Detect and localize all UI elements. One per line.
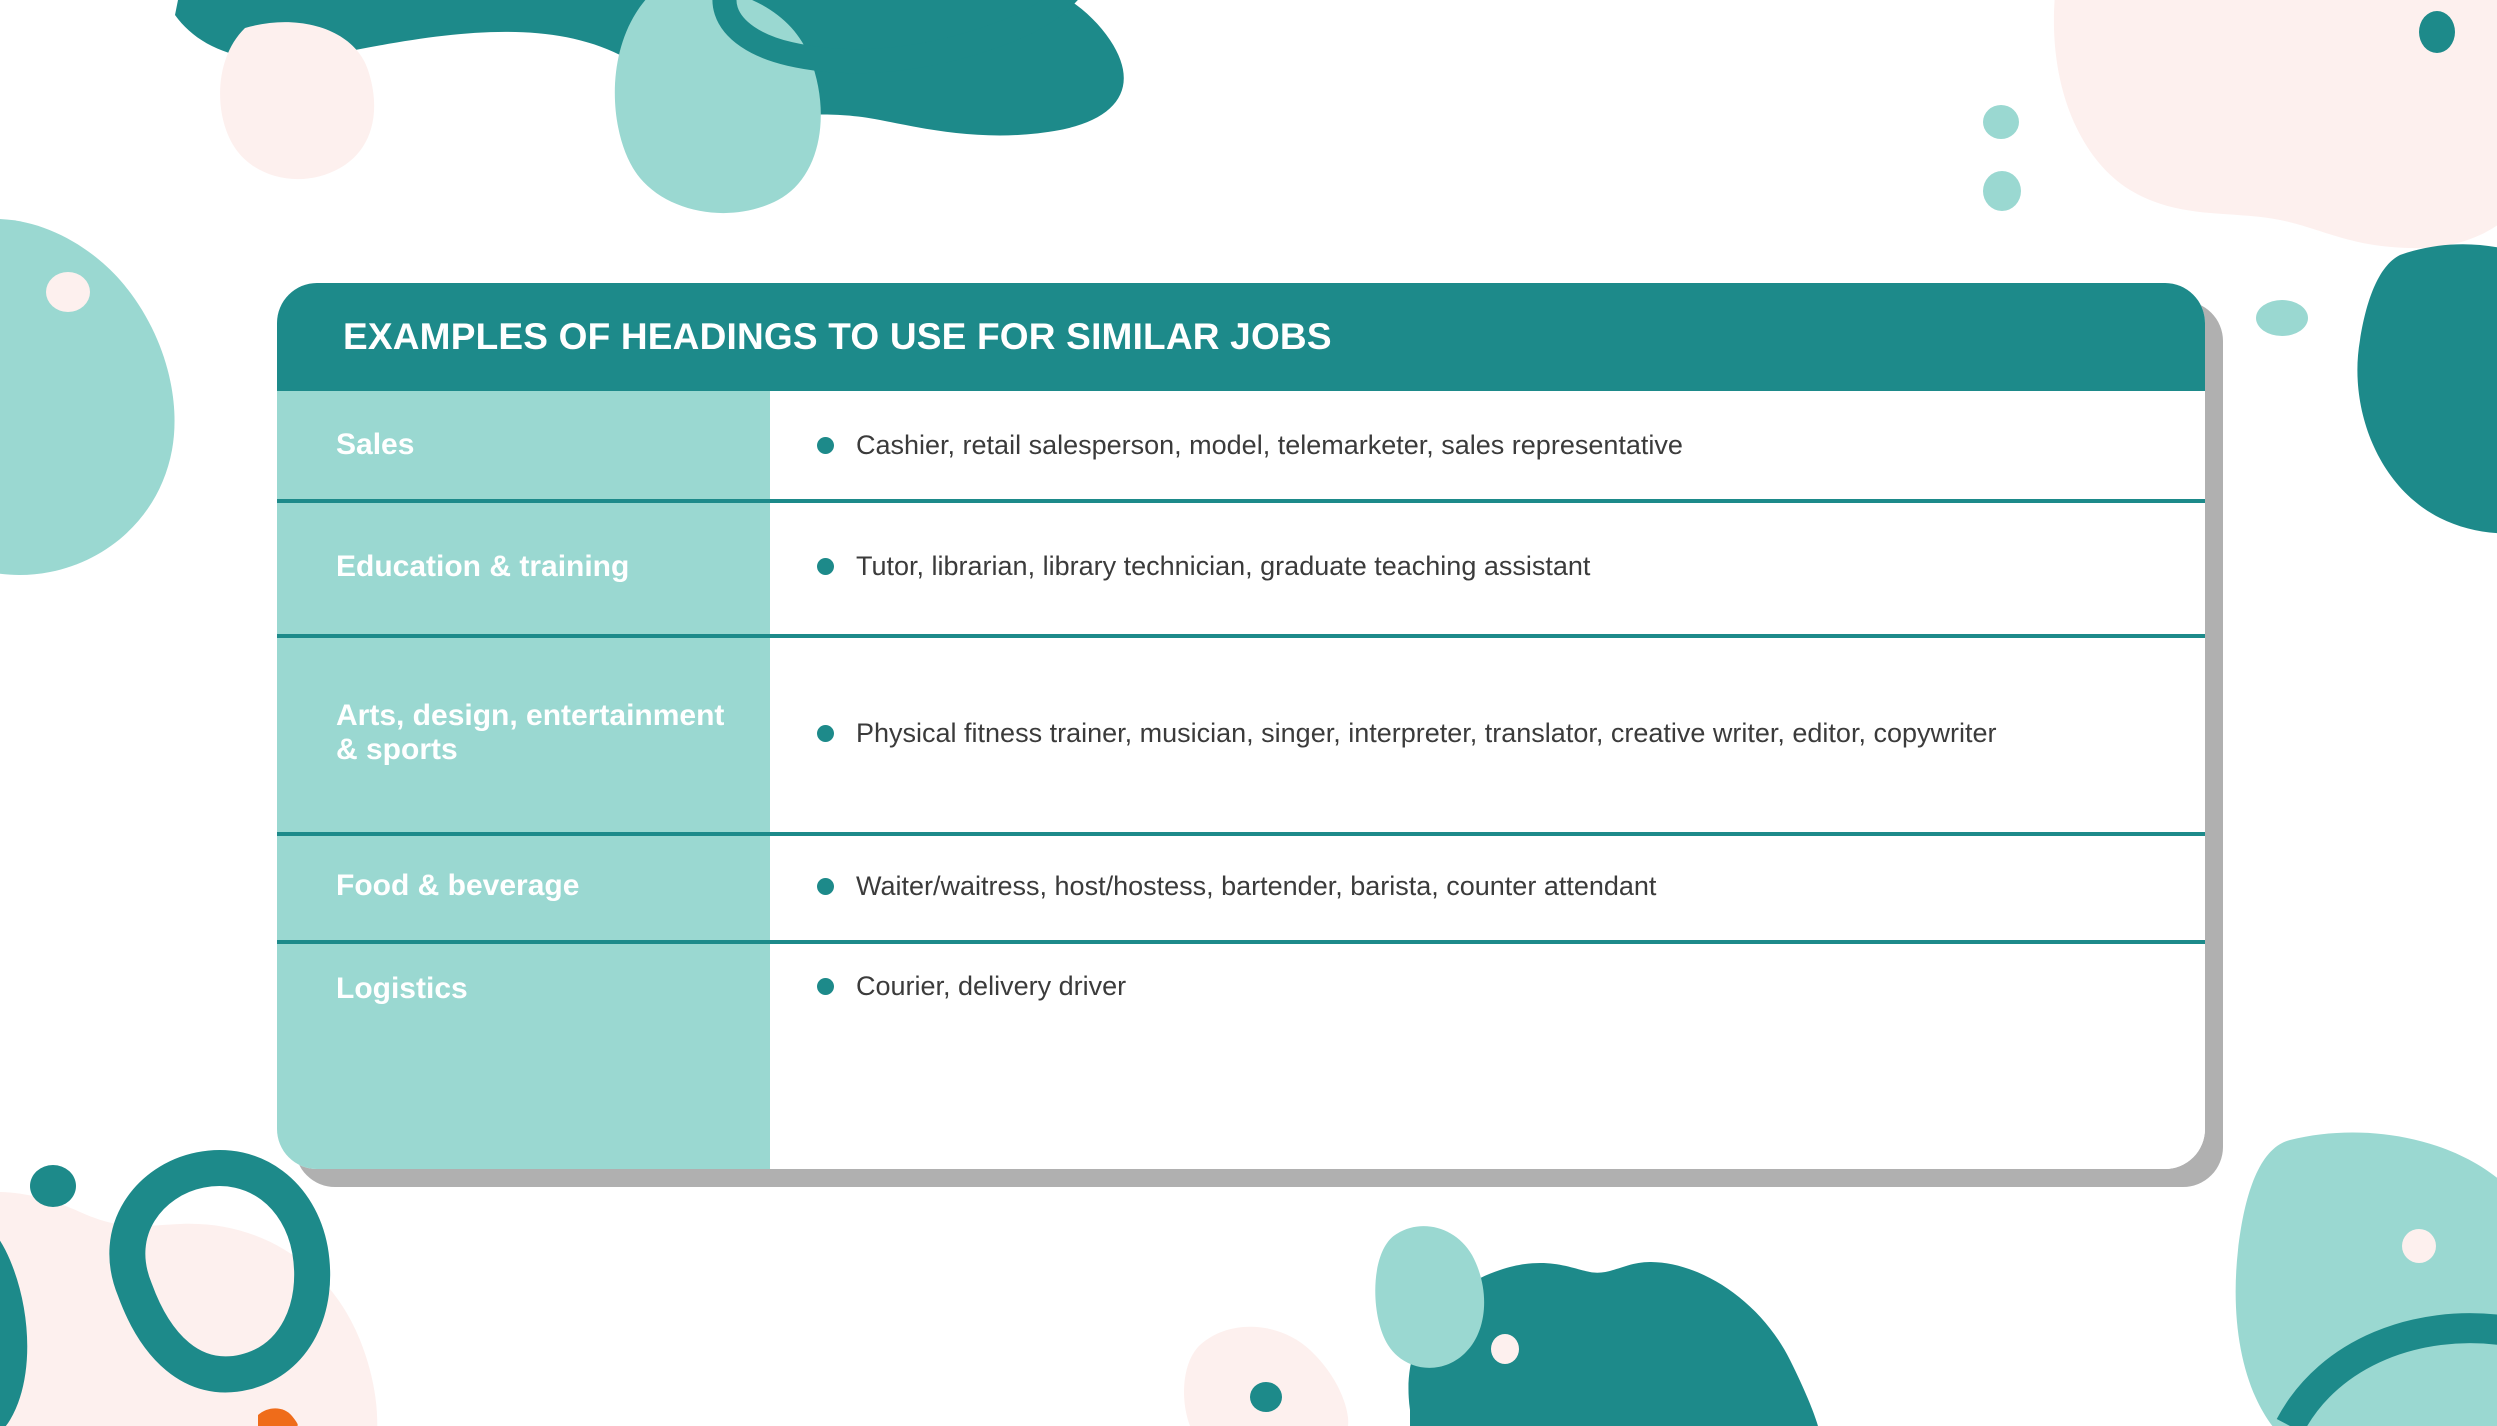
row-category-label: Sales [336, 428, 414, 462]
bullet-line: Courier, delivery driver [817, 970, 1126, 1003]
bottom-left-orange-accent [258, 1408, 298, 1426]
table-row: Arts, design, entertainment & sports Phy… [277, 634, 2205, 832]
row-category-cell: Sales [277, 391, 770, 499]
bottom-left-teal-dot [30, 1165, 76, 1207]
bottom-right-blush-dot [2402, 1229, 2436, 1263]
bullet-dot-icon [817, 878, 834, 895]
table-row: Food & beverage Waiter/waitress, host/ho… [277, 832, 2205, 940]
left-blush-dot [46, 272, 90, 312]
bullet-line: Tutor, librarian, library technician, gr… [817, 550, 1590, 583]
bottom-center-white-dot [1491, 1334, 1519, 1364]
table-row: Education & training Tutor, librarian, l… [277, 499, 2205, 634]
bottom-left-teal-ring-icon [127, 1168, 312, 1374]
row-category-cell: Arts, design, entertainment & sports [277, 634, 770, 832]
row-items-cell: Courier, delivery driver [770, 940, 2205, 1169]
row-category-label: Arts, design, entertainment & sports [336, 699, 750, 767]
bullet-line: Physical fitness trainer, musician, sing… [817, 717, 1996, 750]
bottom-center-mint-blob [1375, 1226, 1484, 1368]
mint-dot-near-header [1983, 105, 2019, 139]
top-right-blush-blob [2054, 0, 2497, 248]
bullet-line: Cashier, retail salesperson, model, tele… [817, 429, 1683, 462]
top-left-teal-blob [175, 0, 1124, 135]
bottom-center-blush-teal-dot [1250, 1382, 1282, 1412]
row-items-text: Waiter/waitress, host/hostess, bartender… [856, 870, 1656, 903]
row-category-cell: Logistics [277, 940, 770, 1169]
top-ring-outline-icon [724, 0, 1087, 61]
bottom-left-blush-blob [0, 1192, 377, 1426]
bottom-center-teal-blob [1408, 1262, 1818, 1426]
right-teal-blob [2357, 244, 2497, 533]
top-right-teal-dot [2419, 11, 2455, 53]
row-items-text: Courier, delivery driver [856, 970, 1126, 1003]
table-row: Sales Cashier, retail salesperson, model… [277, 391, 2205, 499]
row-items-text: Tutor, librarian, library technician, gr… [856, 550, 1590, 583]
bullet-dot-icon [817, 725, 834, 742]
row-category-cell: Food & beverage [277, 832, 770, 940]
row-category-label: Logistics [336, 972, 468, 1006]
bullet-dot-icon [817, 558, 834, 575]
table-row: Logistics Courier, delivery driver [277, 940, 2205, 1169]
row-category-cell: Education & training [277, 499, 770, 634]
row-items-cell: Physical fitness trainer, musician, sing… [770, 634, 2205, 832]
top-right-mint-dot [1983, 171, 2021, 211]
row-category-label: Education & training [336, 550, 629, 584]
mint-dot-right-card [2256, 300, 2308, 336]
row-items-text: Physical fitness trainer, musician, sing… [856, 717, 1996, 750]
left-mint-blob [0, 219, 175, 575]
bullet-dot-icon [817, 978, 834, 995]
row-items-text: Cashier, retail salesperson, model, tele… [856, 429, 1683, 462]
bottom-right-mint-blob [2236, 1133, 2497, 1426]
headings-table-card: EXAMPLES OF HEADINGS TO USE FOR SIMILAR … [277, 283, 2205, 1169]
card-header-title: EXAMPLES OF HEADINGS TO USE FOR SIMILAR … [343, 316, 1332, 358]
bottom-right-teal-arc-icon [2290, 1328, 2497, 1426]
bullet-dot-icon [817, 437, 834, 454]
row-category-label: Food & beverage [336, 869, 579, 903]
top-left-blush-circle [220, 22, 374, 179]
card-surface: EXAMPLES OF HEADINGS TO USE FOR SIMILAR … [277, 283, 2205, 1169]
row-items-cell: Tutor, librarian, library technician, gr… [770, 499, 2205, 634]
card-header: EXAMPLES OF HEADINGS TO USE FOR SIMILAR … [277, 283, 2205, 391]
bottom-left-teal-blob [0, 1202, 27, 1426]
headings-table-body: Sales Cashier, retail salesperson, model… [277, 391, 2205, 1169]
row-items-cell: Waiter/waitress, host/hostess, bartender… [770, 832, 2205, 940]
bullet-line: Waiter/waitress, host/hostess, bartender… [817, 870, 1656, 903]
top-left-mint-circle [615, 0, 821, 213]
row-items-cell: Cashier, retail salesperson, model, tele… [770, 391, 2205, 499]
bottom-center-blush-blob [1184, 1327, 1348, 1426]
